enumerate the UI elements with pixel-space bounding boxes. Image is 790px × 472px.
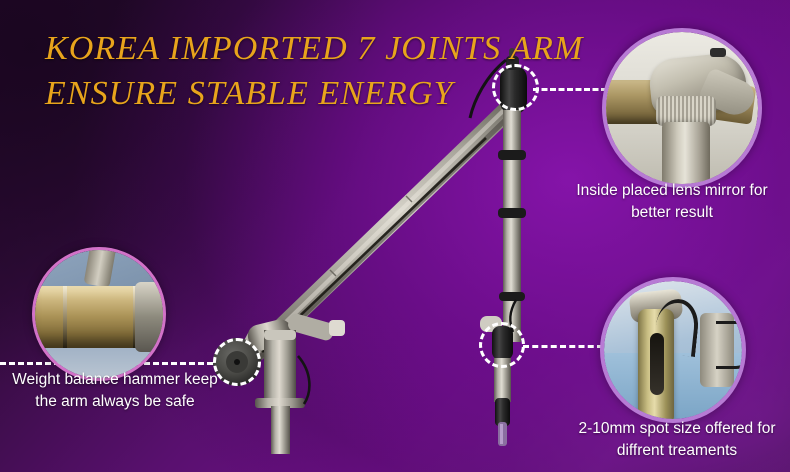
callout-circle-spot-size	[479, 322, 525, 368]
inset-photo-spot-size	[600, 277, 746, 423]
caption-spot-size: 2-10mm spot size offered for diffrent tr…	[564, 418, 790, 462]
promo-banner: KOREA IMPORTED 7 JOINTS ARM ENSURE STABL…	[0, 0, 790, 472]
leader-line-spot-size	[523, 345, 603, 348]
vertical-column	[498, 110, 526, 342]
inset-photo-lens-mirror	[602, 28, 762, 188]
inset-photo-weight-balance	[32, 247, 166, 381]
page-title: KOREA IMPORTED 7 JOINTS ARM ENSURE STABL…	[45, 26, 605, 116]
caption-lens-mirror: Inside placed lens mirror for better res…	[556, 180, 788, 224]
arm-boom	[247, 104, 513, 360]
caption-weight-balance: Weight balance hammer keep the arm alway…	[4, 369, 226, 413]
